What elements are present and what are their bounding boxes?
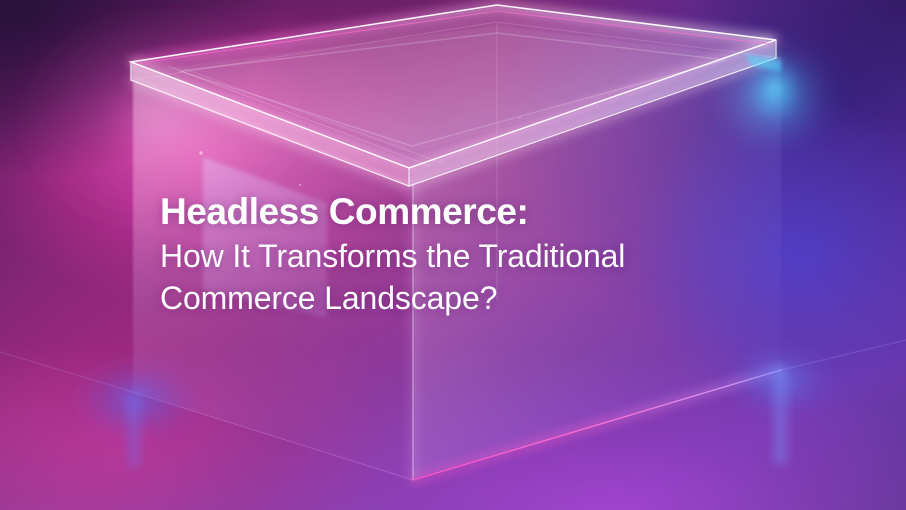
hero-banner: Headless Commerce: How It Transforms the… bbox=[0, 0, 906, 510]
speck-b bbox=[299, 184, 301, 186]
banner-text-block: Headless Commerce: How It Transforms the… bbox=[160, 192, 800, 319]
cyan-halo-right-corner bbox=[749, 54, 801, 122]
banner-headline: Headless Commerce: bbox=[160, 192, 800, 232]
reflection-shaft-right bbox=[775, 368, 786, 464]
banner-subheadline-line-1: How It Transforms the Traditional bbox=[160, 236, 800, 278]
reflection-shaft-left bbox=[129, 392, 139, 466]
speck-c bbox=[519, 117, 521, 119]
banner-subheadline-line-2: Commerce Landscape? bbox=[160, 278, 800, 320]
speck-a bbox=[199, 151, 202, 154]
banner-subheadline: How It Transforms the Traditional Commer… bbox=[160, 236, 800, 319]
